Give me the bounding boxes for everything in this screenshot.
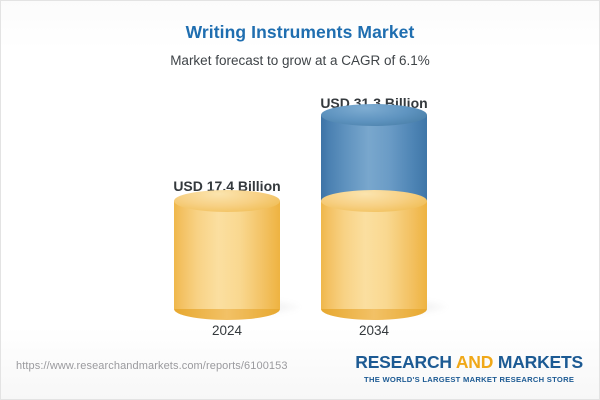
chart-plot-area: USD 17.4 Billion 2024 USD 31.3 Billion (1, 1, 600, 346)
logo-word-markets: MARKETS (498, 352, 583, 372)
axis-label-2034: 2034 (359, 323, 389, 338)
cylinder-body (321, 201, 427, 309)
cylinder-top-ellipse (174, 190, 280, 212)
source-url[interactable]: https://www.researchandmarkets.com/repor… (16, 360, 288, 372)
bar-segment-base-2034 (321, 201, 427, 309)
research-and-markets-logo[interactable]: RESEARCH AND MARKETS THE WORLD'S LARGEST… (355, 352, 583, 384)
footer: https://www.researchandmarkets.com/repor… (1, 344, 600, 399)
cylinder-top-ellipse (321, 190, 427, 212)
bar-segment-base-2024 (174, 201, 280, 309)
axis-label-2024: 2024 (212, 323, 242, 338)
cylinder-body (174, 201, 280, 309)
logo-word-research: RESEARCH (355, 352, 452, 372)
cylinder-top-ellipse (321, 104, 427, 126)
logo-tagline: THE WORLD'S LARGEST MARKET RESEARCH STOR… (355, 375, 583, 384)
logo-wordmark: RESEARCH AND MARKETS (355, 352, 583, 373)
logo-word-and: AND (452, 352, 498, 372)
infographic-card: Writing Instruments Market Market foreca… (0, 0, 600, 400)
